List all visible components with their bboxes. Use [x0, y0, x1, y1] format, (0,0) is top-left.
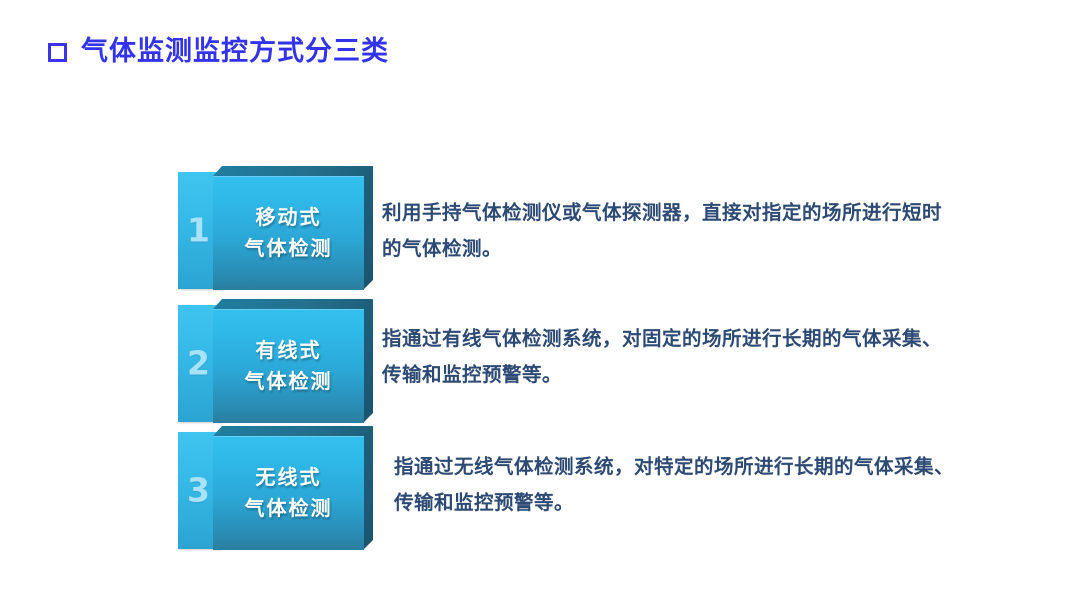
box-top-bevel	[213, 426, 373, 436]
item-label-box[interactable]: 移动式 气体检测	[213, 166, 373, 290]
box-right-bevel	[363, 299, 373, 423]
item-description: 利用手持气体检测仪或气体探测器，直接对指定的场所进行短时的气体检测。	[382, 196, 942, 268]
item-label-line1: 有线式	[256, 341, 322, 361]
item-label-line1: 移动式	[256, 208, 322, 228]
box-top-bevel	[213, 166, 373, 176]
item-label-line1: 无线式	[256, 468, 322, 488]
box-top-bevel	[213, 299, 373, 309]
category-list: 1 移动式 气体检测 利用手持气体检测仪或气体探测器，直接对指定的场所进行短时的…	[0, 0, 1080, 608]
item-description: 指通过有线气体检测系统，对固定的场所进行长期的气体采集、传输和监控预警等。	[382, 322, 942, 394]
item-label-line2: 气体检测	[245, 239, 333, 259]
box-right-bevel	[363, 426, 373, 550]
box-front-face: 无线式 气体检测	[213, 436, 364, 550]
item-description: 指通过无线气体检测系统，对特定的场所进行长期的气体采集、传输和监控预警等。	[394, 450, 954, 522]
box-front-face: 移动式 气体检测	[213, 176, 364, 290]
item-label-box[interactable]: 有线式 气体检测	[213, 299, 373, 423]
item-label-line2: 气体检测	[245, 499, 333, 519]
box-front-face: 有线式 气体检测	[213, 309, 364, 423]
item-label-line2: 气体检测	[245, 372, 333, 392]
box-right-bevel	[363, 166, 373, 290]
item-label-box[interactable]: 无线式 气体检测	[213, 426, 373, 550]
